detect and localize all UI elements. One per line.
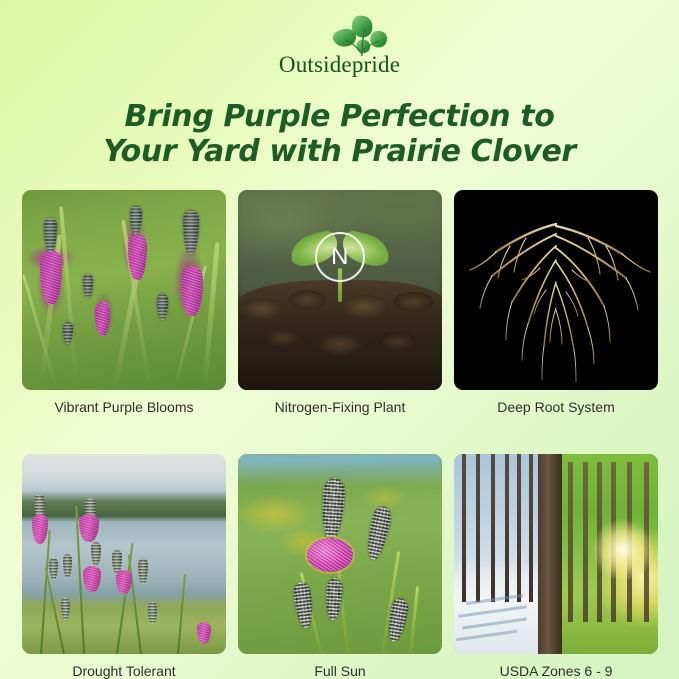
feature-card-drought-tolerant: Drought Tolerant xyxy=(22,454,226,679)
clover-by-lake-photo xyxy=(22,454,226,654)
brand-name: Outsidepride xyxy=(279,52,400,78)
nitrogen-symbol-icon: N xyxy=(315,232,365,282)
feature-card-usda-zones: USDA Zones 6 - 9 xyxy=(454,454,658,679)
feature-caption: Nitrogen-Fixing Plant xyxy=(275,398,406,416)
center-trunk xyxy=(538,454,562,654)
feature-card-vibrant-purple-blooms: Vibrant Purple Blooms xyxy=(22,190,226,416)
seedling-in-soil-photo: N xyxy=(238,190,442,390)
feature-caption: Deep Root System xyxy=(497,398,615,416)
sun-glow xyxy=(592,519,654,581)
brand-logo: Outsidepride xyxy=(0,12,679,84)
feature-caption: Drought Tolerant xyxy=(72,662,175,679)
feature-card-deep-root-system: Deep Root System xyxy=(454,190,658,416)
headline-line-1: Bring Purple Perfection to xyxy=(0,99,679,134)
root-system-on-black-photo xyxy=(454,190,658,390)
page-title: Bring Purple Perfection to Your Yard wit… xyxy=(0,99,679,169)
clover-closeup-photo xyxy=(238,454,442,654)
prairie-clover-infographic: Outsidepride Bring Purple Perfection to … xyxy=(0,0,679,679)
feature-caption: Full Sun xyxy=(314,662,365,679)
feature-card-nitrogen-fixing-plant: N Nitrogen-Fixing Plant xyxy=(238,190,442,416)
winter-summer-forest-photo xyxy=(454,454,658,654)
headline-line-2: Your Yard with Prairie Clover xyxy=(0,134,679,169)
feature-grid: Vibrant Purple Blooms N Nitrogen-Fixing … xyxy=(22,190,658,679)
feature-card-full-sun: Full Sun xyxy=(238,454,442,679)
feature-caption: USDA Zones 6 - 9 xyxy=(500,662,613,679)
feature-caption: Vibrant Purple Blooms xyxy=(54,398,193,416)
purple-clover-meadow-photo xyxy=(22,190,226,390)
